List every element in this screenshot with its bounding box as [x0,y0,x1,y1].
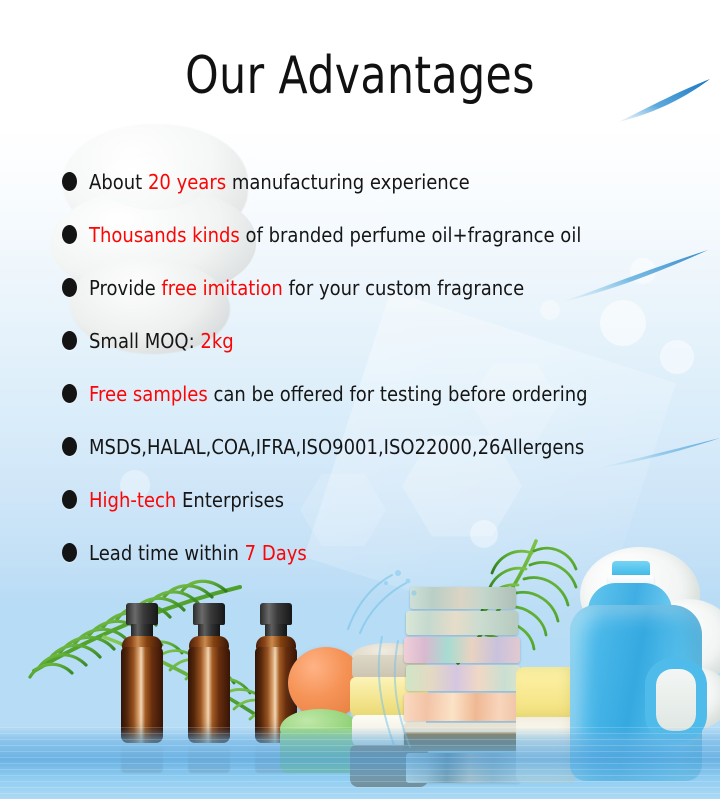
list-item: High-tech Enterprises [62,473,682,526]
bullet-dot-icon [62,490,77,509]
advantage-text: MSDS,HALAL,COA,IFRA,ISO9001,ISO22000,26A… [89,435,584,459]
soap-bar-marbled [410,587,516,609]
bullet-dot-icon [62,331,77,350]
list-item: Thousands kinds of branded perfume oil+f… [62,208,682,261]
product-scene [0,539,720,799]
list-item: Provide free imitation for your custom f… [62,261,682,314]
bullet-dot-icon [62,384,77,403]
bottle-cap [126,603,158,625]
list-item: Small MOQ: 2kg [62,314,682,367]
water-surface [0,727,720,799]
page-title: Our Advantages [65,47,655,105]
list-item: MSDS,HALAL,COA,IFRA,ISO9001,ISO22000,26A… [62,420,682,473]
bullet-dot-icon [62,437,77,456]
water-splash [340,567,420,637]
cylinder-soap-yellow [516,667,578,719]
advantage-text: Free samples can be offered for testing … [89,382,588,406]
advantages-poster: Our Advantages About 20 years manufactur… [0,0,720,799]
advantage-text: About 20 years manufacturing experience [89,170,470,194]
advantages-list: About 20 years manufacturing experience … [62,155,682,579]
list-item: Free samples can be offered for testing … [62,367,682,420]
list-item: About 20 years manufacturing experience [62,155,682,208]
bullet-dot-icon [62,172,77,191]
bottle-cap [193,603,225,625]
bullet-dot-icon [62,278,77,297]
bottle-cap [260,603,292,625]
advantage-text: High-tech Enterprises [89,488,284,512]
detergent-handle [656,669,696,731]
advantage-text: Small MOQ: 2kg [89,329,234,353]
advantage-text: Provide free imitation for your custom f… [89,276,524,300]
bullet-dot-icon [62,225,77,244]
advantage-text: Thousands kinds of branded perfume oil+f… [89,223,581,247]
